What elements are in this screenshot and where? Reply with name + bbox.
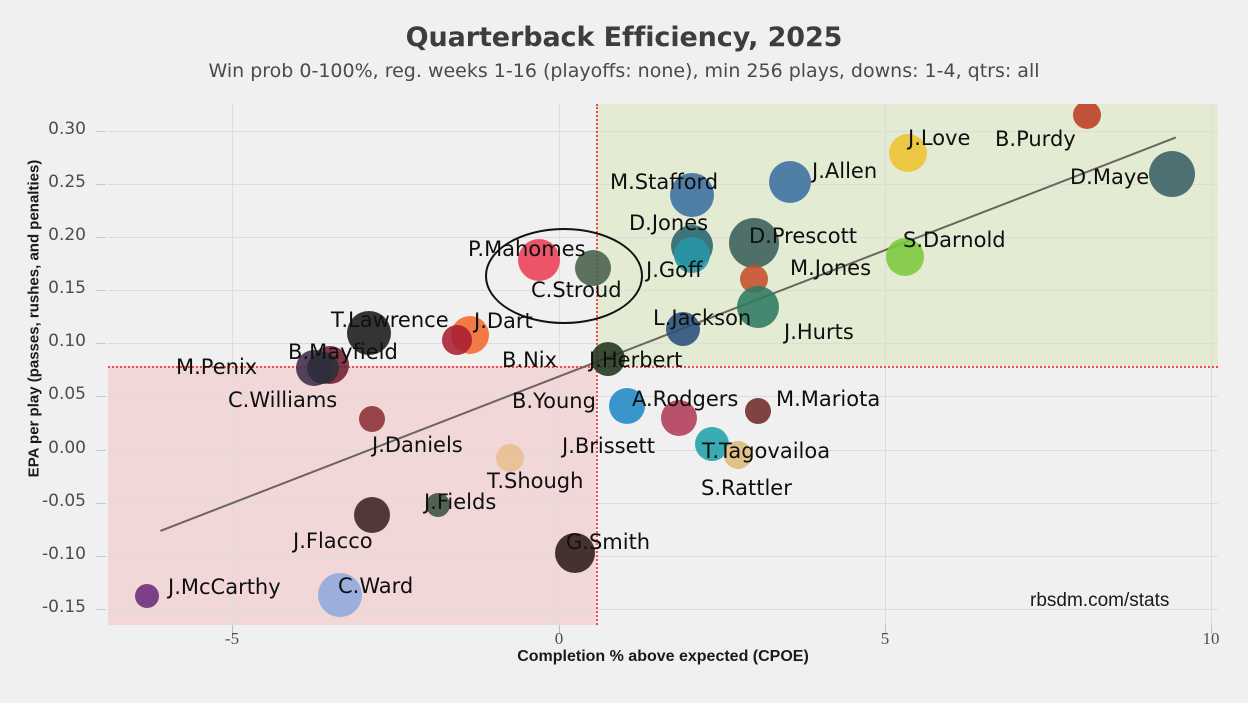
point-label: D.Jones (629, 211, 708, 235)
point-label: J.Hurts (784, 320, 854, 344)
point-label: C.Stroud (531, 278, 622, 302)
point-label: J.McCarthy (168, 575, 281, 599)
gridline-horizontal (108, 556, 1218, 557)
point-label: S.Darnold (903, 228, 1006, 252)
y-axis-tick (96, 290, 106, 291)
point-label: D.Maye (1070, 165, 1149, 189)
point-label: M.Mariota (776, 387, 880, 411)
watermark: rbsdm.com/stats (1030, 590, 1169, 612)
point-label: B.Young (512, 389, 596, 413)
y-axis-tick (96, 450, 106, 451)
point-label: J.Love (908, 126, 970, 150)
gridline-horizontal (108, 290, 1218, 291)
point-label: M.Stafford (610, 170, 718, 194)
point-label: J.Allen (812, 159, 877, 183)
y-axis-tick-label: 0.10 (26, 331, 86, 351)
y-axis-tick-label: -0.15 (26, 597, 86, 617)
y-axis-tick-label: 0.15 (26, 278, 86, 298)
point-label: P.Mahomes (468, 237, 586, 261)
y-axis-tick-label: -0.05 (26, 491, 86, 511)
chart-subtitle: Win prob 0-100%, reg. weeks 1-16 (playof… (0, 60, 1248, 82)
point-label: J.Flacco (293, 529, 373, 553)
y-axis-tick (96, 609, 106, 610)
y-axis-tick (96, 184, 106, 185)
x-axis-tick-label: -5 (202, 629, 262, 649)
y-axis-tick-label: 0.00 (26, 438, 86, 458)
gridline-vertical (885, 104, 886, 625)
gridline-horizontal (108, 503, 1218, 504)
point-label: J.Fields (424, 490, 496, 514)
point-label: A.Rodgers (632, 387, 738, 411)
y-axis-tick-label: -0.10 (26, 544, 86, 564)
point-label: S.Rattler (701, 476, 792, 500)
x-axis-tick-label: 0 (529, 629, 589, 649)
point-label: L.Jackson (653, 306, 751, 330)
gridline-horizontal (108, 450, 1218, 451)
point-label: C.Ward (338, 574, 413, 598)
y-axis-tick (96, 343, 106, 344)
point-label: D.Prescott (749, 224, 857, 248)
point-label: T.Shough (487, 469, 583, 493)
y-axis-tick (96, 503, 106, 504)
point-label: J.Goff (646, 258, 702, 282)
y-axis-tick-label: 0.05 (26, 384, 86, 404)
y-axis-tick-label: 0.25 (26, 172, 86, 192)
point-label: B.Mayfield (288, 340, 398, 364)
y-axis-tick (96, 396, 106, 397)
chart-title: Quarterback Efficiency, 2025 (0, 22, 1248, 53)
y-axis-tick (96, 237, 106, 238)
point-label: T.Lawrence (331, 308, 449, 332)
y-axis-tick-label: 0.30 (26, 119, 86, 139)
point-label: M.Penix (176, 355, 257, 379)
point-label: J.Herbert (589, 348, 682, 372)
data-point-t-shough[interactable] (496, 444, 524, 472)
point-label: M.Jones (790, 256, 871, 280)
data-point-j-allen[interactable] (769, 161, 811, 203)
point-label: B.Nix (502, 348, 557, 372)
x-axis-title: Completion % above expected (CPOE) (108, 648, 1218, 666)
point-label: T.Tagovailoa (702, 439, 830, 463)
y-axis-tick (96, 556, 106, 557)
data-point-j-daniels[interactable] (359, 406, 385, 432)
y-axis-tick (96, 131, 106, 132)
x-axis-tick-label: 10 (1181, 629, 1241, 649)
gridline-vertical (1211, 104, 1212, 625)
point-label: B.Purdy (995, 127, 1076, 151)
point-label: J.Daniels (372, 433, 463, 457)
point-label: J.Brissett (562, 434, 655, 458)
gridline-horizontal (108, 237, 1218, 238)
x-axis-tick-label: 5 (855, 629, 915, 649)
point-label: J.Dart (474, 309, 533, 333)
point-label: C.Williams (228, 388, 337, 412)
gridline-horizontal (108, 343, 1218, 344)
y-axis-tick-label: 0.20 (26, 225, 86, 245)
point-label: G.Smith (566, 530, 650, 554)
data-point-m-mariota[interactable] (745, 398, 771, 424)
